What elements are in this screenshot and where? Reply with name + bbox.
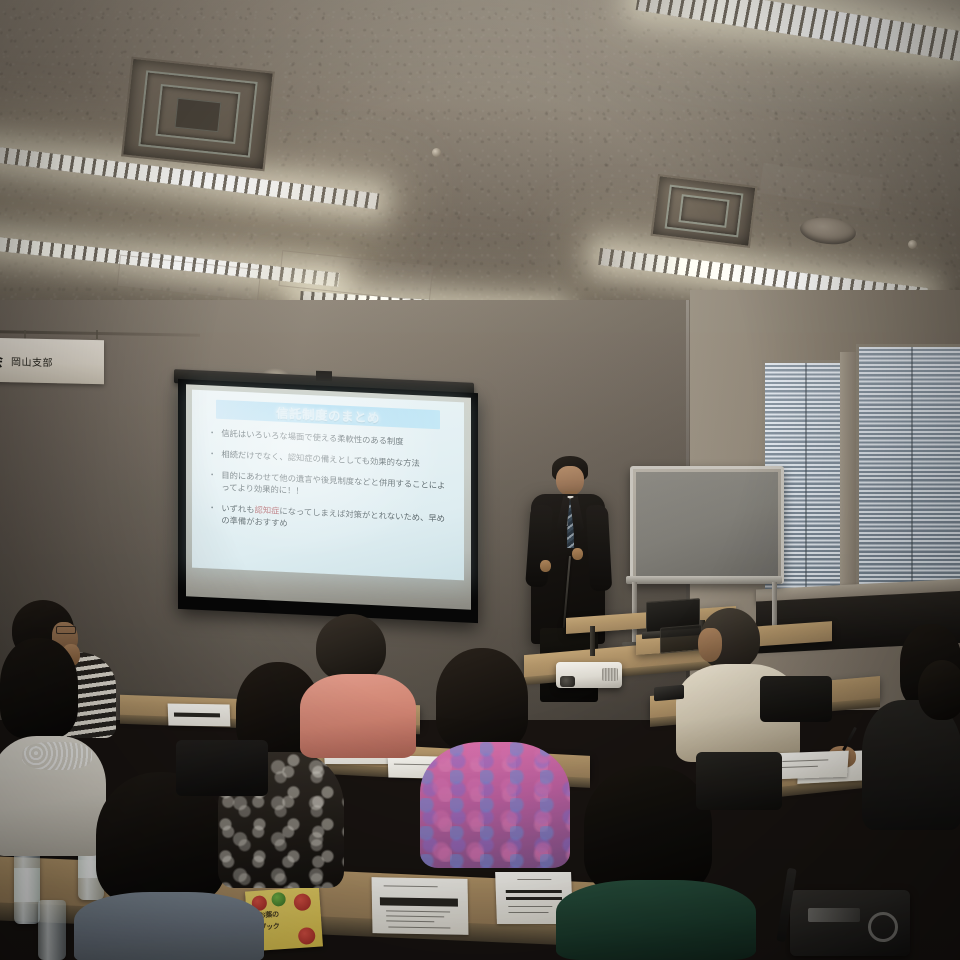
slide-bullet-list: ・ 信託はいろいろな場面で使える柔軟性のある制度 ・ 相続だけでなく、認知症の備…	[208, 426, 452, 546]
screen-mount	[316, 371, 332, 382]
paper-line	[384, 885, 438, 887]
projector-lens	[560, 676, 575, 687]
slide-bullet: ・ 目的にあわせて他の遺言や後見制度などと併用することによってより効果的に！！	[208, 468, 452, 504]
bullet-text: 相続だけでなく、認知症の備えとしても効果的な方法	[221, 448, 419, 469]
sprinkler-head	[432, 148, 441, 157]
paper-line	[517, 879, 551, 880]
bullet-text: 信託はいろいろな場面で使える柔軟性のある制度	[221, 427, 403, 448]
presenter-hand-right	[572, 548, 583, 560]
mobile-phone	[654, 685, 684, 702]
slide-bullet: ・ 相続だけでなく、認知症の備えとしても効果的な方法	[208, 447, 452, 471]
audience-body-green-top-woman	[556, 880, 756, 960]
camera-lens-ring	[868, 912, 898, 942]
whiteboard-pen-tray	[626, 576, 782, 584]
paper-heading-band	[380, 897, 458, 906]
bullet-marker: ・	[208, 447, 216, 459]
paper-line	[782, 766, 818, 768]
bullet-text: 目的にあわせて他の遺言や後見制度などと併用することによってより効果的に！！	[221, 469, 452, 504]
diffuser-core	[174, 98, 221, 132]
banner-sub-text: 岡山支部	[11, 353, 53, 369]
paper-band	[506, 897, 562, 900]
paper-line	[386, 915, 444, 917]
lace-collar-detail	[22, 742, 92, 770]
bullet-marker: ・	[208, 468, 216, 492]
handout-paper-main	[372, 877, 469, 935]
note-paper	[773, 751, 849, 780]
bullet-marker: ・	[208, 426, 216, 438]
window-right	[856, 344, 960, 598]
slide-bullet: ・ 信託はいろいろな場面で使える柔軟性のある制度	[208, 426, 452, 450]
camera-body-highlight	[808, 908, 860, 922]
audience-head-white-top-woman	[0, 638, 78, 738]
pamphlet-badge-red-3	[298, 927, 316, 945]
window-blinds[interactable]	[859, 347, 960, 595]
audience-body-salmon-polo-man	[300, 674, 416, 758]
organization-banner: 会 岡山支部	[0, 338, 104, 384]
slide-title-text: 信託制度のまとめ	[276, 403, 380, 427]
sprinkler-head	[908, 240, 917, 249]
air-diffuser-1	[121, 57, 275, 172]
banner-main-text: 会	[0, 349, 4, 370]
paper-band	[174, 713, 220, 718]
bullet-text: いずれも認知症になってしまえば対策がとれないため、早めの準備がおすすめ	[221, 502, 452, 537]
audience-head-far-right	[918, 660, 960, 720]
blind-cord[interactable]	[805, 363, 807, 589]
slide-title-band: 信託制度のまとめ	[216, 400, 440, 430]
audience-body-grey-shirt-man	[74, 892, 264, 960]
bullet-text-highlight: 認知症	[255, 505, 280, 516]
projected-slide: 信託制度のまとめ ・ 信託はいろいろな場面で使える柔軟性のある制度 ・ 相続だけ…	[192, 390, 464, 581]
diffuser-ring	[678, 194, 729, 228]
seminar-room-photo: 会 岡山支部 信託制度のまとめ ・ 信託はいろいろな場面で使える柔軟性のある制度…	[0, 0, 960, 960]
audience-body-pink-pattern-woman	[420, 742, 570, 868]
projector-vent	[602, 668, 618, 681]
chair-back	[176, 740, 268, 796]
air-diffuser-2	[651, 174, 758, 248]
audience-head-green-top-woman	[584, 766, 712, 894]
bullet-text-pre: いずれも	[221, 503, 254, 515]
paper-line	[782, 759, 828, 762]
bullet-marker: ・	[208, 501, 216, 525]
whiteboard-surface	[636, 472, 778, 578]
paper-line	[509, 912, 549, 913]
audience-head-salmon-polo-man	[316, 614, 386, 682]
paper-line	[386, 920, 434, 922]
audience-head-pink-pattern-woman	[436, 648, 528, 750]
chair-back	[696, 752, 782, 810]
presenter-arm-right	[586, 504, 612, 591]
chair-back	[760, 676, 832, 722]
paper-band	[506, 890, 562, 893]
slide-bullet: ・ いずれも認知症になってしまえば対策がとれないため、早めの準備がおすすめ	[208, 501, 452, 537]
laptop-screen-secondary	[660, 624, 702, 654]
pamphlet-badge-green	[271, 892, 286, 907]
desk-leg	[590, 626, 595, 656]
water-bottle-3	[38, 900, 66, 960]
glasses-icon	[56, 626, 76, 634]
whiteboard	[630, 466, 784, 584]
pamphlet-badge-red-2	[293, 893, 311, 911]
paper-line	[394, 764, 430, 766]
window-mullion	[840, 352, 856, 592]
paper-line	[386, 910, 450, 912]
whiteboard-leg	[772, 582, 777, 630]
blind-cord[interactable]	[911, 347, 913, 595]
handout-paper	[168, 703, 231, 726]
audience-face-beige-shirt-man	[698, 628, 722, 662]
paper-line	[388, 926, 450, 928]
presenter-hand-left	[540, 560, 551, 572]
bottle-label	[14, 868, 40, 902]
paper-line	[508, 906, 552, 907]
banner-hook	[96, 330, 98, 339]
